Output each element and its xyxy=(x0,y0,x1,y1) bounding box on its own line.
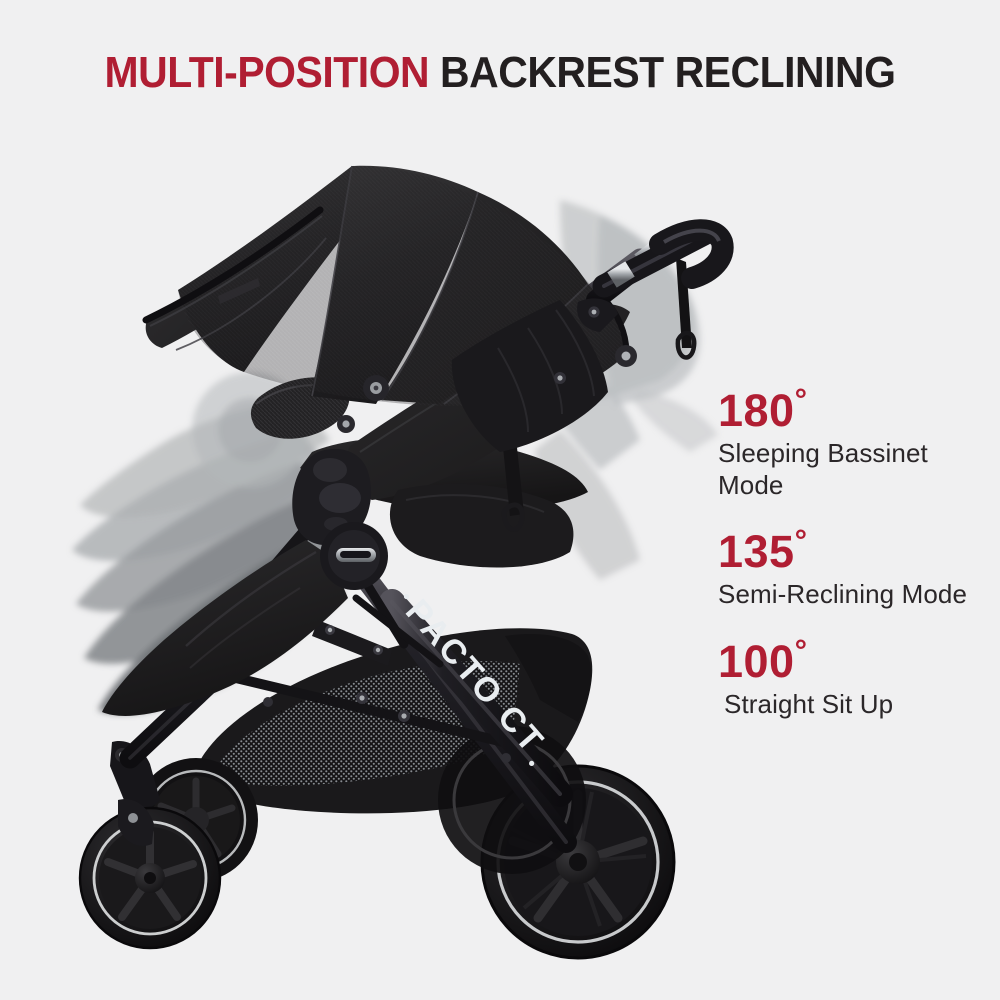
front-wheel-assembly xyxy=(80,741,258,948)
spec-angle-100: 100° xyxy=(718,639,990,686)
image-canvas: MULTI-POSITION BACKREST RECLINING xyxy=(0,0,1000,1000)
spec-item-180: 180° Sleeping Bassinet Mode xyxy=(718,388,990,501)
spec-angle-value: 135 xyxy=(718,526,795,577)
spec-angle-value: 180 xyxy=(718,385,795,436)
spec-angle-value: 100 xyxy=(718,636,795,687)
spec-angle-180: 180° xyxy=(718,388,990,435)
degree-symbol-icon: ° xyxy=(795,523,808,558)
degree-symbol-icon: ° xyxy=(795,633,808,668)
spec-label-100: Straight Sit Up xyxy=(718,689,968,721)
recline-spec-list: 180° Sleeping Bassinet Mode 135° Semi-Re… xyxy=(718,388,990,748)
spec-label-135: Semi-Reclining Mode xyxy=(718,579,968,611)
spec-angle-135: 135° xyxy=(718,529,990,576)
degree-symbol-icon: ° xyxy=(795,382,808,417)
spec-item-100: 100° Straight Sit Up xyxy=(718,639,990,721)
spec-item-135: 135° Semi-Reclining Mode xyxy=(718,529,990,611)
spec-label-180: Sleeping Bassinet Mode xyxy=(718,438,968,501)
